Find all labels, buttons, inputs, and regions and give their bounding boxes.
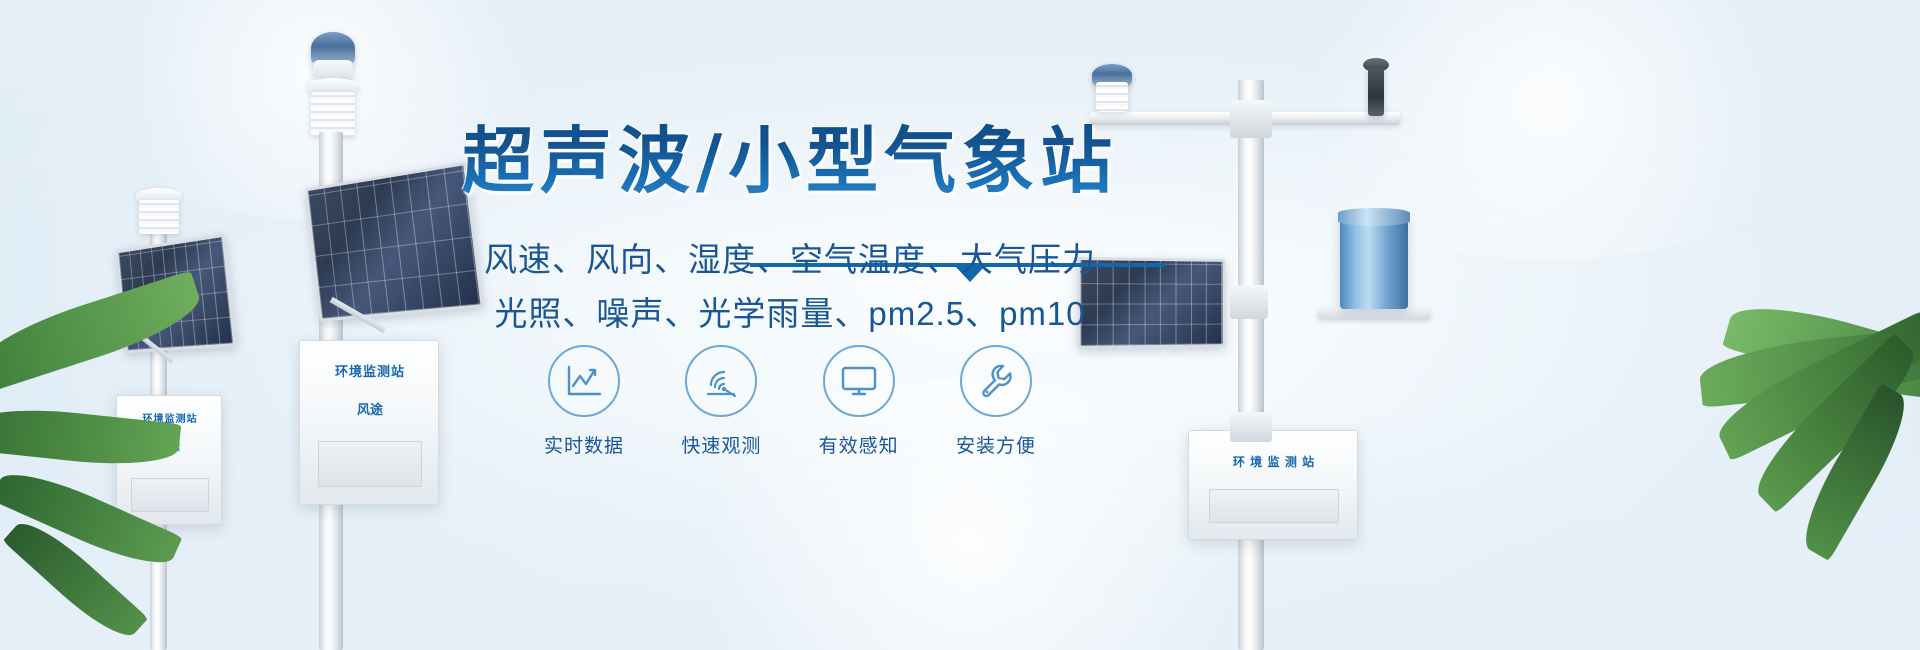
feature-item-realtime-data[interactable]: 实时数据 [530, 345, 638, 458]
product-banner: 环境监测站 风途 环境监测站 风途 [0, 0, 1920, 650]
feature-item-easy-install[interactable]: 安装方便 [942, 345, 1050, 458]
feature-list: 实时数据 快速观测 [530, 345, 1050, 458]
feature-label: 快速观测 [667, 431, 775, 458]
monitor-screen-icon [823, 345, 895, 417]
subtitle-line-2: 光照、噪声、光学雨量、pm2.5、pm10 [440, 287, 1140, 335]
wrench-icon [960, 345, 1032, 417]
feature-item-fast-observation[interactable]: 快速观测 [667, 345, 775, 458]
page-title: 超声波/小型气象站 [440, 118, 1140, 204]
line-chart-icon [548, 345, 620, 417]
radar-signal-icon [685, 345, 757, 417]
subtitle-line-1: 风速、风向、湿度、空气温度、大气压力 [440, 233, 1140, 281]
feature-label: 安装方便 [942, 431, 1050, 458]
feature-label: 实时数据 [530, 431, 638, 458]
feature-label: 有效感知 [805, 431, 913, 458]
banner-content: 超声波/小型气象站 风速、风向、湿度、空气温度、大气压力 光照、噪声、光学雨量、… [0, 0, 1920, 650]
feature-item-effective-sensing[interactable]: 有效感知 [805, 345, 913, 458]
